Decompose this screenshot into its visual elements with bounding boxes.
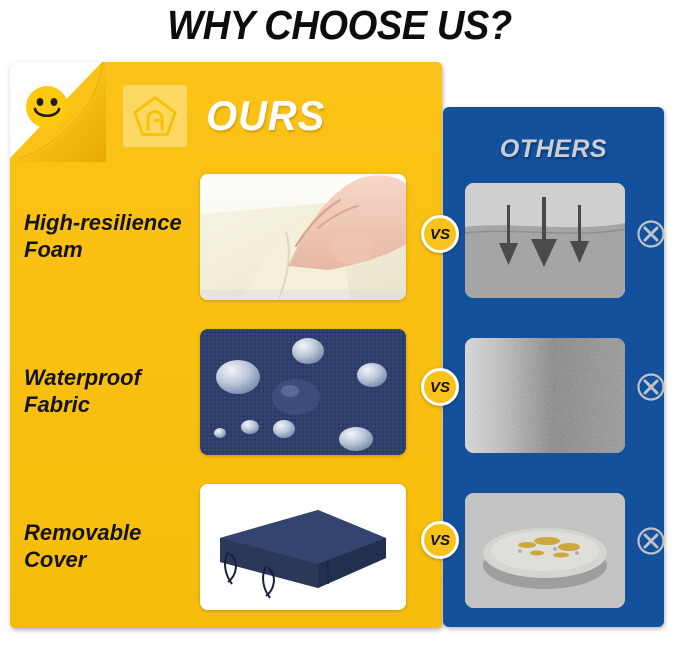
ours-row-foam: High-resilience Foam: [10, 162, 442, 312]
ours-row-fabric: Waterproof Fabric: [10, 317, 442, 467]
feature-label-fabric: Waterproof Fabric: [10, 365, 200, 419]
feature-label-cover: Removable Cover: [10, 520, 200, 574]
feature-label-cover-line1: Removable: [24, 520, 200, 547]
x-circle-icon: [636, 372, 666, 402]
feature-label-foam: High-resilience Foam: [10, 210, 200, 264]
ours-panel: OURS High-resilience Foam: [10, 62, 442, 628]
ours-image-fabric: [200, 329, 406, 455]
ours-row-cover: Removable Cover: [10, 472, 442, 622]
x-circle-icon: [636, 526, 666, 556]
feature-label-fabric-line1: Waterproof: [24, 365, 200, 392]
others-image-stained-cushion: [465, 493, 625, 608]
ours-header: OURS: [10, 80, 442, 152]
page-title: WHY CHOOSE US?: [24, 2, 655, 49]
vs-badge-1: VS: [421, 215, 459, 253]
smiley-face-icon: [24, 84, 70, 130]
vs-badge-3: VS: [421, 521, 459, 559]
others-image-stained-fabric: [465, 338, 625, 453]
feature-label-foam-line1: High-resilience: [24, 210, 200, 237]
feature-label-foam-line2: Foam: [24, 237, 200, 264]
home-icon: [123, 85, 187, 147]
feature-label-fabric-line2: Fabric: [24, 392, 200, 419]
others-panel: OTHERS: [443, 107, 664, 627]
ours-heading: OURS: [206, 92, 325, 140]
x-circle-icon: [636, 219, 666, 249]
ours-image-foam: [200, 174, 406, 300]
feature-label-cover-line2: Cover: [24, 547, 200, 574]
vs-badge-2: VS: [421, 368, 459, 406]
others-heading: OTHERS: [443, 135, 664, 164]
others-image-sagging-foam: [465, 183, 625, 298]
ours-image-cover: [200, 484, 406, 610]
